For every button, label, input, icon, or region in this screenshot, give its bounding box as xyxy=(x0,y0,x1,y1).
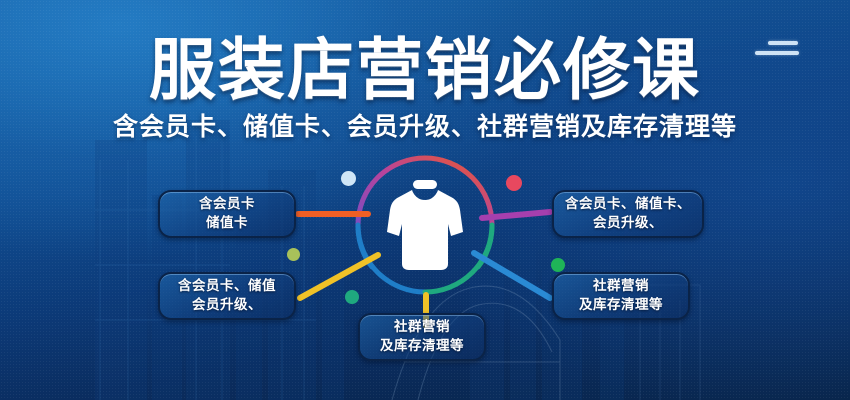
node-bottom-right-line1: 社群营销 xyxy=(593,277,649,296)
node-bottom-left: 含会员卡、储值 会员升级、 xyxy=(158,272,296,320)
node-bottom-center-line2: 及库存清理等 xyxy=(380,337,464,356)
node-top-right-line2: 会员升级、 xyxy=(593,214,663,233)
node-bottom-right: 社群营销 及库存清理等 xyxy=(552,272,690,320)
sub-title: 含会员卡、储值卡、会员升级、社群营销及库存清理等 xyxy=(0,112,850,142)
shirt-icon xyxy=(385,178,465,273)
decor-dot-pink-icon xyxy=(506,175,522,191)
node-bottom-left-line1: 含会员卡、储值 xyxy=(178,277,276,296)
decor-dot-green-icon xyxy=(551,258,565,272)
decor-dot-lightblue-icon xyxy=(341,171,356,186)
node-top-left-line2: 储值卡 xyxy=(206,214,248,233)
marketing-banner: 服装店营销必修课 含会员卡、储值卡、会员升级、社群营销及库存清理等 xyxy=(0,0,850,400)
node-top-right: 含会员卡、储值卡、 会员升级、 xyxy=(552,190,704,238)
main-title: 服装店营销必修课 xyxy=(0,34,850,106)
node-top-left-line1: 含会员卡 xyxy=(199,195,255,214)
concept-diagram: 含会员卡 储值卡 含会员卡、储值 会员升级、 含会员卡、储值卡、 会员升级、 社… xyxy=(0,150,850,400)
node-bottom-left-line2: 会员升级、 xyxy=(192,296,262,315)
node-top-right-line1: 含会员卡、储值卡、 xyxy=(565,195,691,214)
node-top-left: 含会员卡 储值卡 xyxy=(158,190,296,238)
node-bottom-right-line2: 及库存清理等 xyxy=(579,296,663,315)
node-bottom-center: 社群营销 及库存清理等 xyxy=(358,313,486,361)
title-block: 服装店营销必修课 含会员卡、储值卡、会员升级、社群营销及库存清理等 xyxy=(0,34,850,142)
decor-dot-teal-icon xyxy=(345,290,359,304)
decor-dot-olive-icon xyxy=(287,248,300,261)
node-bottom-center-line1: 社群营销 xyxy=(394,318,450,337)
